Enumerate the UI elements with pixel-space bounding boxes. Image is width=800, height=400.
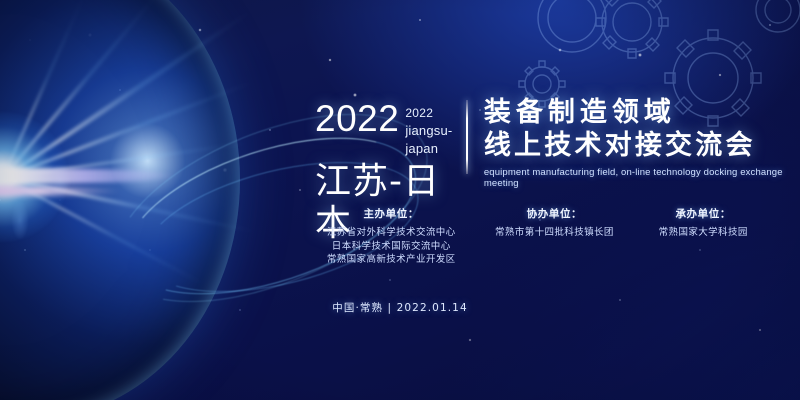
year-latin-group: 2022 jiangsu-japan xyxy=(405,100,456,158)
year-line: 2022 2022 jiangsu-japan xyxy=(315,100,456,158)
title-divider xyxy=(466,100,468,174)
year-small: 2022 xyxy=(405,106,433,120)
organizer-item: 常熟国家高新技术产业开发区 xyxy=(300,253,482,267)
main-title-line-1: 装备制造领域 xyxy=(484,96,800,129)
organizer-column-co-host: 协办单位： 常熟市第十四批科技镇长团 xyxy=(482,206,626,267)
conference-banner: 2022 2022 jiangsu-japan 江苏-日本 装备制造领域 线上技… xyxy=(0,0,800,400)
organizer-column-undertaker: 承办单位： 常熟国家大学科技园 xyxy=(626,206,780,267)
banner-content: 2022 2022 jiangsu-japan 江苏-日本 装备制造领域 线上技… xyxy=(0,0,800,400)
organizer-heading: 协办单位： xyxy=(482,206,626,221)
organizer-item: 常熟市第十四批科技镇长团 xyxy=(482,226,626,240)
organizer-heading: 主办单位： xyxy=(300,206,482,221)
organizer-item: 日本科学技术国际交流中心 xyxy=(300,240,482,254)
organizers-block: 主办单位： 江苏省对外科学技术交流中心 日本科学技术国际交流中心 常熟国家高新技… xyxy=(300,206,780,267)
organizer-column-host: 主办单位： 江苏省对外科学技术交流中心 日本科学技术国际交流中心 常熟国家高新技… xyxy=(300,206,482,267)
latin-subtitle: jiangsu-japan xyxy=(405,123,452,156)
year-big: 2022 xyxy=(315,100,399,138)
organizer-item: 常熟国家大学科技园 xyxy=(626,226,780,240)
main-title-line-2: 线上技术对接交流会 xyxy=(484,129,800,162)
main-title-subtitle-en: equipment manufacturing field, on-line t… xyxy=(484,167,800,189)
main-title-block: 装备制造领域 线上技术对接交流会 equipment manufacturing… xyxy=(484,96,800,189)
organizer-item: 江苏省对外科学技术交流中心 xyxy=(300,226,482,240)
organizer-heading: 承办单位： xyxy=(626,206,780,221)
location-date: 中国·常熟 | 2022.01.14 xyxy=(332,300,467,315)
location-date-bar: 中国·常熟 | 2022.01.14 xyxy=(0,298,800,316)
